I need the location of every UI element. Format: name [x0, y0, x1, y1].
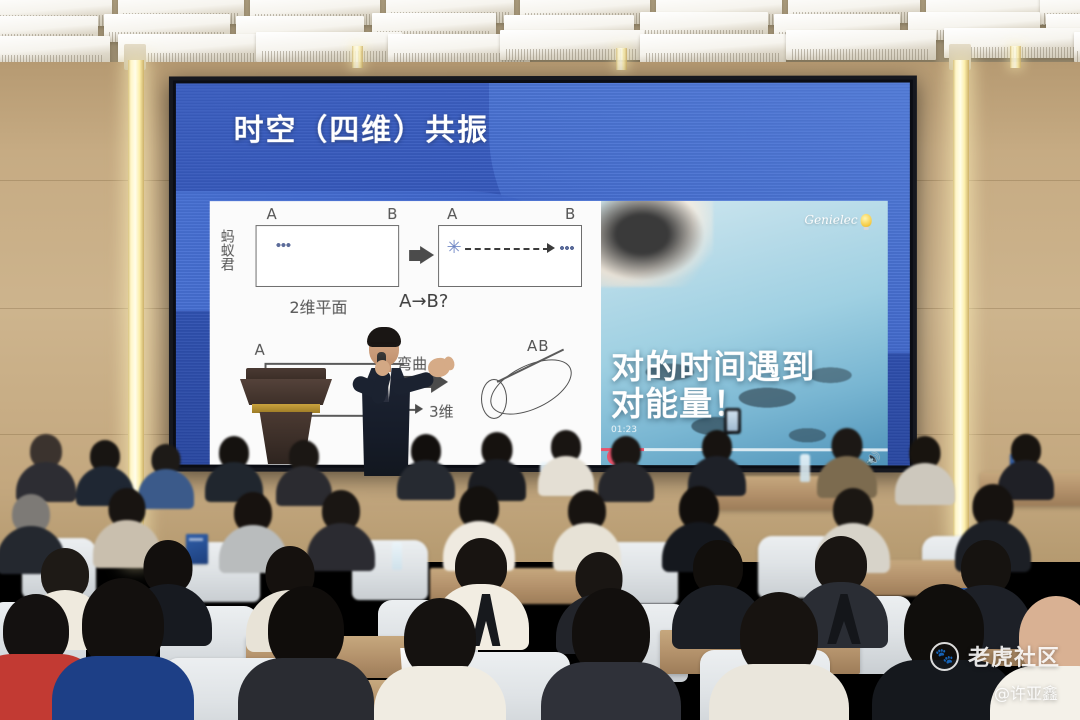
conference-photo: 时空（四维）共振 A B 蚂蚁君 A B ✳ 2维平面 A→B? — [0, 0, 1080, 720]
glasses-icon — [371, 342, 397, 349]
audience-member — [600, 436, 652, 494]
light-strip-ceiling-mid — [616, 48, 627, 70]
water-bottle — [392, 542, 402, 570]
ant-icon-left — [275, 243, 291, 247]
diagram-transition-arrow-tail — [409, 250, 420, 261]
presenter-left-hand — [375, 360, 390, 376]
light-strip-ceiling-right — [1010, 46, 1021, 68]
brand-watermark: 🐾 老虎社区 — [930, 640, 1060, 672]
diagram2-label-a: A — [255, 341, 265, 359]
diagram-label-b-right: B — [565, 205, 575, 223]
brand-watermark-text: 老虎社区 — [968, 640, 1060, 672]
audience-member — [540, 430, 592, 488]
audience-member — [208, 436, 260, 494]
diagram-box-2d-plane — [256, 225, 400, 287]
audience-member — [380, 598, 500, 720]
audience-member — [470, 432, 524, 492]
smartphone — [724, 408, 741, 434]
diagram-transition-arrow — [420, 246, 434, 264]
audience-member — [820, 428, 874, 490]
audience-member — [278, 440, 330, 496]
light-strip-ceiling-mid-left — [352, 46, 363, 68]
audience — [0, 430, 1080, 720]
video-subtitle: 对的时间遇到 对能量！ — [611, 349, 880, 423]
audience-member-recording — [690, 426, 744, 486]
diagram-caption-ab: A→B? — [399, 291, 448, 312]
audience-member — [244, 586, 368, 720]
video-subtitle-line2: 对能量！ — [611, 386, 880, 423]
audience-member — [898, 436, 952, 496]
slide-title: 时空（四维）共振 — [234, 105, 489, 149]
diagram-dashed-path-arrowhead — [547, 243, 555, 253]
video-brand-text: Genielec — [804, 213, 857, 227]
embedded-video-player[interactable]: Genielec 对的时间遇到 对能量！ 01:23 🔊 — [601, 201, 888, 466]
lectern-gold-band — [252, 404, 320, 413]
tiger-logo-icon: 🐾 — [930, 642, 959, 671]
ant-icon-right — [559, 246, 575, 250]
diagram2-cylinder-cap — [481, 379, 507, 419]
diagram2-cylinder-label: AB — [527, 337, 550, 355]
video-hand-image — [601, 201, 713, 287]
diagram-dashed-path — [465, 248, 549, 250]
audience-member — [716, 592, 842, 720]
audience-member — [60, 578, 186, 720]
diagram-label-a-right: A — [447, 205, 457, 223]
video-brand-watermark: Genielec — [804, 213, 871, 227]
water-bottle — [800, 454, 810, 482]
diagram-label-ant-character: 蚂蚁君 — [219, 229, 235, 271]
audience-member — [400, 434, 452, 492]
diagram-caption-2d: 2维平面 — [289, 294, 347, 318]
author-handle: @许亚鑫 — [994, 680, 1058, 704]
video-subtitle-line1: 对的时间遇到 — [611, 349, 880, 386]
diagram-label-a-left: A — [267, 205, 277, 223]
lightbulb-icon — [861, 213, 872, 226]
audience-member — [18, 434, 74, 494]
burst-icon-left: ✳ — [445, 239, 463, 257]
audience-member — [548, 588, 674, 720]
diagram-label-b-left: B — [387, 205, 397, 223]
lectern-body — [240, 379, 332, 405]
